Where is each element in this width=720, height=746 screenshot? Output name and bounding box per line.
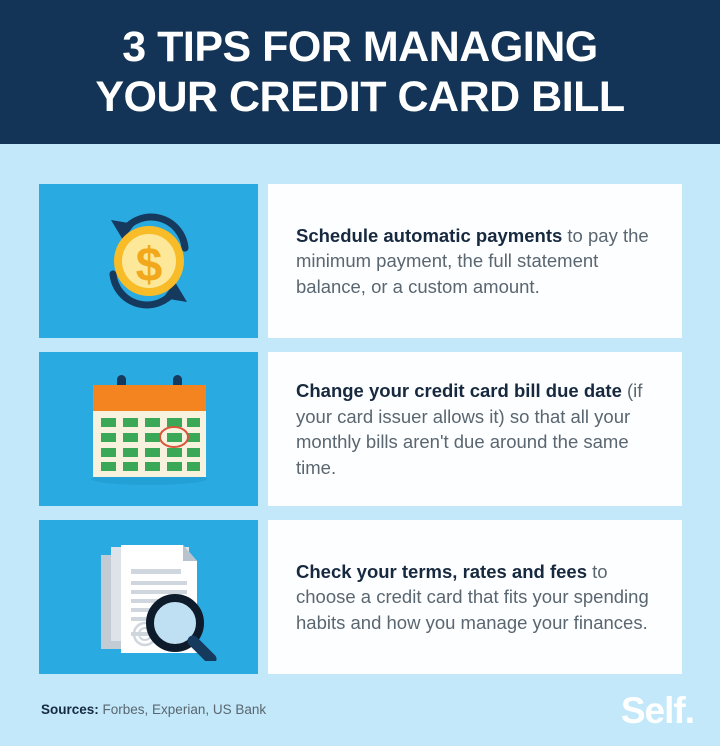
infographic-root: 3 TIPS FOR MANAGING YOUR CREDIT CARD BIL… [0, 0, 720, 746]
svg-text:$: $ [135, 239, 162, 292]
tip-1-lead: Schedule automatic payments [296, 225, 562, 246]
tip-1-icon-panel: $ [39, 184, 258, 338]
tip-1-text-panel: Schedule automatic payments to pay the m… [268, 184, 682, 338]
tips-list: $ Schedule automatic payments to pay the… [39, 184, 682, 688]
tip-2-icon-panel [39, 352, 258, 506]
tip-2-text: Change your credit card bill due date (i… [268, 378, 682, 480]
tip-3-icon-panel [39, 520, 258, 674]
tip-card-2: Change your credit card bill due date (i… [39, 352, 682, 506]
header-banner: 3 TIPS FOR MANAGING YOUR CREDIT CARD BIL… [0, 0, 720, 144]
sources-value: Forbes, Experian, US Bank [99, 702, 266, 717]
tip-1-text: Schedule automatic payments to pay the m… [268, 223, 682, 300]
page-title-line-2: YOUR CREDIT CARD BILL [95, 72, 624, 122]
footer: Sources: Forbes, Experian, US Bank Self. [0, 688, 720, 746]
calendar-due-date-icon [79, 369, 219, 489]
self-logo: Self. [621, 690, 694, 732]
recurring-payment-coin-icon: $ [83, 202, 215, 320]
self-logo-text: Self [621, 690, 685, 731]
tip-card-3: Check your terms, rates and fees to choo… [39, 520, 682, 674]
tip-3-text: Check your terms, rates and fees to choo… [268, 559, 682, 636]
documents-magnifier-icon [79, 533, 219, 661]
sources-note: Sources: Forbes, Experian, US Bank [41, 702, 266, 717]
tip-card-1: $ Schedule automatic payments to pay the… [39, 184, 682, 338]
tip-2-lead: Change your credit card bill due date [296, 380, 622, 401]
page-title-line-1: 3 TIPS FOR MANAGING [122, 22, 597, 72]
tip-3-text-panel: Check your terms, rates and fees to choo… [268, 520, 682, 674]
tip-3-lead: Check your terms, rates and fees [296, 561, 587, 582]
self-logo-dot: . [685, 690, 694, 731]
tip-2-text-panel: Change your credit card bill due date (i… [268, 352, 682, 506]
sources-label: Sources: [41, 702, 99, 717]
